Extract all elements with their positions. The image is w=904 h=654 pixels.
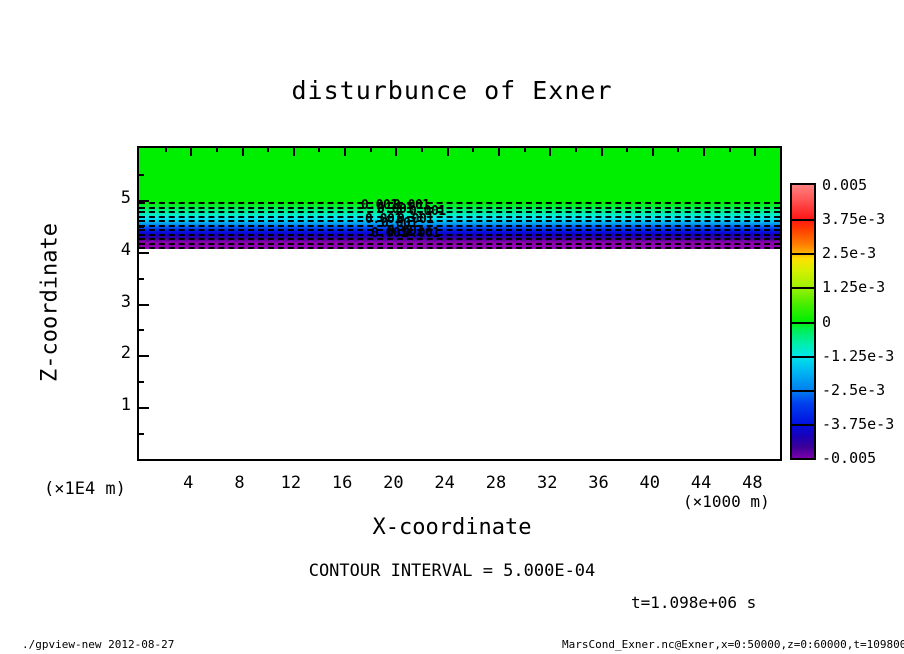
x-axis-tick <box>395 147 397 156</box>
y-axis-title: Z-coordinate <box>38 193 63 413</box>
x-axis-minor-tick <box>729 147 731 152</box>
x-axis-tick-label: 40 <box>640 473 660 493</box>
y-axis-tick-label: 1 <box>121 395 131 415</box>
x-axis-tick-label: 20 <box>383 473 403 493</box>
x-axis-minor-tick <box>575 147 577 152</box>
x-axis-minor-tick <box>216 147 218 152</box>
colorbar-tick-label: -1.25e-3 <box>822 347 894 365</box>
x-axis-unit-label: (×1000 m) <box>683 492 770 511</box>
x-axis-tick-label: 4 <box>183 473 193 493</box>
colorbar-divider <box>792 253 814 255</box>
y-axis-minor-tick <box>138 381 144 383</box>
y-axis-tick <box>138 407 149 409</box>
contour-line <box>139 225 780 227</box>
contour-line <box>139 247 780 249</box>
x-axis-minor-tick <box>626 147 628 152</box>
colorbar-divider <box>792 219 814 221</box>
y-axis-tick-labels: 12345 <box>95 146 135 461</box>
y-axis-tick <box>138 304 149 306</box>
contour-label-group: 0.0010.0010.0010.0010.0010.0010.0010.001… <box>361 196 441 246</box>
x-axis-title: X-coordinate <box>0 515 904 540</box>
colorbar <box>790 183 816 460</box>
contour-line <box>139 216 780 218</box>
contour-line <box>139 243 780 245</box>
colorbar-tick-label: 0 <box>822 313 831 331</box>
contour-line <box>139 211 780 213</box>
time-stamp-caption: t=1.098e+06 s <box>631 593 756 612</box>
x-axis-tick <box>242 147 244 156</box>
x-axis-tick-labels: 4812162024283236404448 <box>137 463 782 489</box>
contour-line <box>139 229 780 231</box>
contour-line <box>139 220 780 222</box>
colorbar-divider <box>792 424 814 426</box>
x-axis-tick <box>549 147 551 156</box>
colorbar-tick-label: -3.75e-3 <box>822 415 894 433</box>
colorbar-tick-label: 2.5e-3 <box>822 244 876 262</box>
y-axis-unit-label: (×1E4 m) <box>44 479 126 499</box>
x-axis-tick <box>344 147 346 156</box>
x-axis-tick-label: 36 <box>588 473 608 493</box>
colorbar-divider <box>792 287 814 289</box>
x-axis-minor-tick <box>677 147 679 152</box>
colorbar-divider <box>792 356 814 358</box>
colorbar-divider <box>792 390 814 392</box>
heatmap-canvas: 0.0010.0010.0010.0010.0010.0010.0010.001… <box>139 148 780 459</box>
x-axis-tick-label: 44 <box>691 473 711 493</box>
y-axis-minor-tick <box>138 174 144 176</box>
x-axis-tick-label: 12 <box>281 473 301 493</box>
contour-line <box>139 207 780 209</box>
colorbar-tick-labels: 0.0053.75e-32.5e-31.25e-30-1.25e-3-2.5e-… <box>822 183 902 460</box>
y-axis-tick <box>138 355 149 357</box>
x-axis-tick-label: 28 <box>486 473 506 493</box>
y-axis-minor-tick <box>138 278 144 280</box>
x-axis-minor-tick <box>370 147 372 152</box>
x-axis-minor-tick <box>165 147 167 152</box>
colorbar-divider <box>792 322 814 324</box>
colorbar-tick-label: -0.005 <box>822 449 876 467</box>
colorbar-tick-label: 1.25e-3 <box>822 278 885 296</box>
x-axis-minor-tick <box>267 147 269 152</box>
plot-frame: 0.0010.0010.0010.0010.0010.0010.0010.001… <box>137 146 782 461</box>
y-axis-tick <box>138 252 149 254</box>
x-axis-tick <box>190 147 192 156</box>
x-axis-tick <box>498 147 500 156</box>
y-axis-tick-label: 5 <box>121 188 131 208</box>
field-region-zero <box>139 148 780 202</box>
page-title: disturbunce of Exner <box>0 76 904 105</box>
y-axis-minor-tick <box>138 226 144 228</box>
x-axis-tick-label: 16 <box>332 473 352 493</box>
x-axis-minor-tick <box>318 147 320 152</box>
x-axis-minor-tick <box>472 147 474 152</box>
contour-line <box>139 202 780 204</box>
footer-source-label: MarsCond_Exner.nc@Exner,x=0:50000,z=0:60… <box>562 638 904 651</box>
x-axis-tick <box>652 147 654 156</box>
contour-line <box>139 238 780 240</box>
footer-command-label: ./gpview-new 2012-08-27 <box>22 638 174 651</box>
y-axis-tick-label: 3 <box>121 292 131 312</box>
x-axis-tick-label: 32 <box>537 473 557 493</box>
contour-label: 0.001 <box>403 226 440 241</box>
y-axis-tick-label: 2 <box>121 343 131 363</box>
contour-interval-caption: CONTOUR INTERVAL = 5.000E-04 <box>0 561 904 581</box>
contour-line <box>139 234 780 236</box>
x-axis-minor-tick <box>421 147 423 152</box>
x-axis-minor-tick <box>754 147 756 152</box>
y-axis-minor-tick <box>138 329 144 331</box>
x-axis-tick <box>293 147 295 156</box>
x-axis-tick-label: 8 <box>234 473 244 493</box>
x-axis-tick <box>447 147 449 156</box>
colorbar-tick-label: -2.5e-3 <box>822 381 885 399</box>
y-axis-minor-tick <box>138 433 144 435</box>
x-axis-tick-label: 24 <box>434 473 454 493</box>
x-axis-tick <box>703 147 705 156</box>
y-axis-tick <box>138 200 149 202</box>
colorbar-tick-label: 3.75e-3 <box>822 210 885 228</box>
x-axis-minor-tick <box>524 147 526 152</box>
x-axis-tick <box>601 147 603 156</box>
colorbar-tick-label: 0.005 <box>822 176 867 194</box>
x-axis-tick-label: 48 <box>742 473 762 493</box>
y-axis-tick-label: 4 <box>121 240 131 260</box>
